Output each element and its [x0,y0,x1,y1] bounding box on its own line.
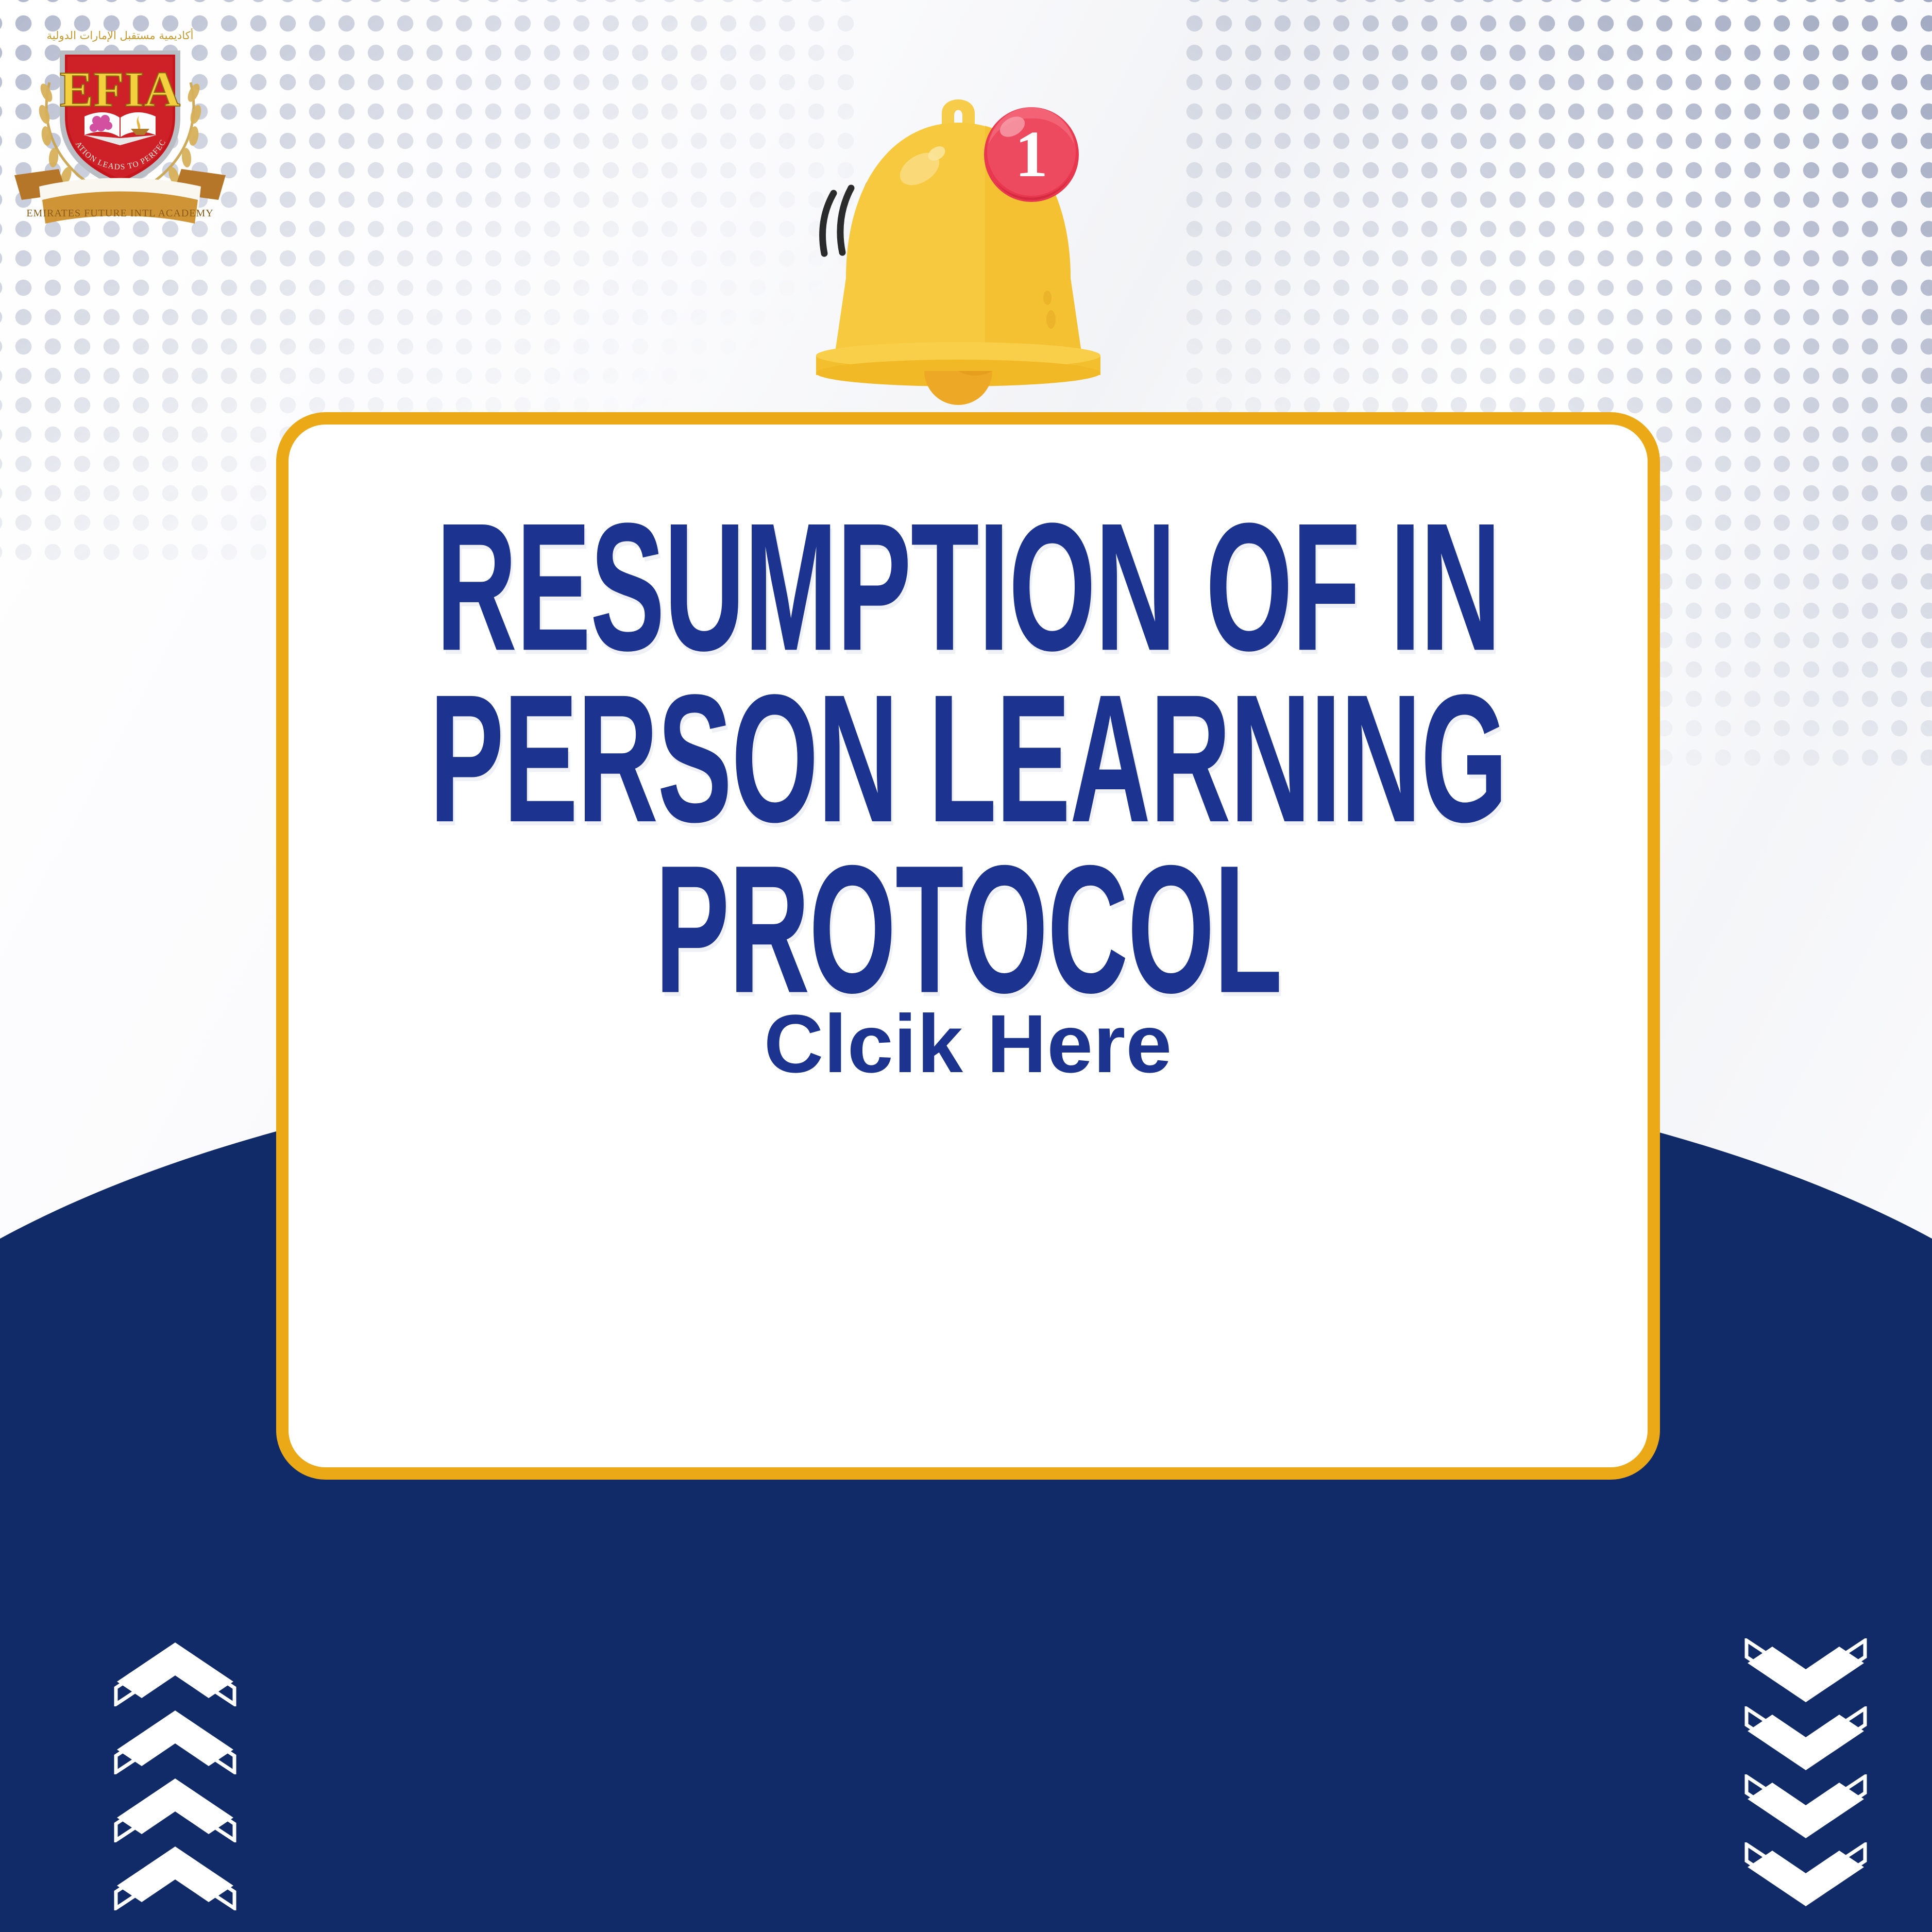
chevron-up-icon [106,1774,245,1842]
efia-logo: أكاديمية مستقبل الإمارات الدولية [9,5,231,227]
chevron-up-icon [106,1638,245,1706]
chevron-up-icon [106,1842,245,1910]
chevron-down-stack [1736,1638,1875,1910]
chevron-down-icon [1736,1842,1875,1910]
chevron-down-icon [1736,1706,1875,1774]
badge-count: 1 [1015,117,1048,191]
badge-circle: 1 [984,107,1079,202]
svg-text:EMIRATES FUTURE INTL ACADEMY: EMIRATES FUTURE INTL ACADEMY [26,208,213,219]
chevron-up-icon [106,1706,245,1774]
announcement-card[interactable]: RESUMPTION OF IN PERSON LEARNING PROTOCO… [276,412,1660,1480]
page-title: RESUMPTION OF IN PERSON LEARNING PROTOCO… [335,502,1601,1015]
svg-text:أكاديمية مستقبل الإمارات الدول: أكاديمية مستقبل الإمارات الدولية [47,28,194,42]
poster-canvas: أكاديمية مستقبل الإمارات الدولية [0,0,1932,1932]
chevron-down-icon [1736,1774,1875,1842]
chevron-down-icon [1736,1638,1875,1706]
svg-text:EFIA: EFIA [60,62,180,117]
shield-crest-logo-icon: أكاديمية مستقبل الإمارات الدولية [9,5,231,227]
chevron-up-stack [106,1638,245,1910]
